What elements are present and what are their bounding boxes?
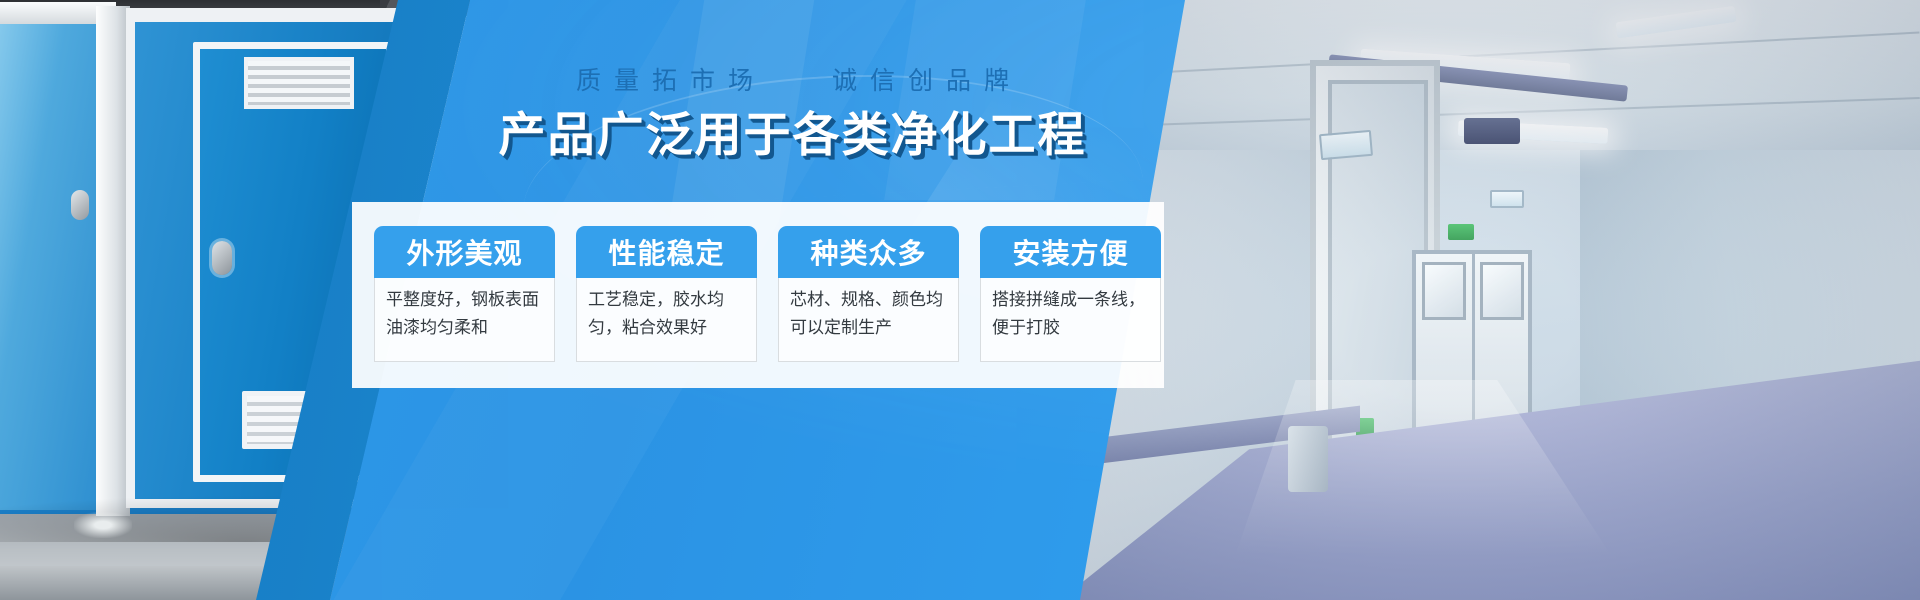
feature-card-title: 性能稳定 bbox=[576, 226, 757, 278]
feature-card: 种类众多 芯材、规格、颜色均可以定制生产 bbox=[778, 226, 959, 362]
feature-card-panel: 外形美观 平整度好，钢板表面油漆均匀柔和 性能稳定 工艺稳定，胶水均匀，粘合效果… bbox=[352, 202, 1164, 388]
feature-card-title: 安装方便 bbox=[980, 226, 1161, 278]
photo-ground-debris bbox=[74, 512, 132, 538]
feature-card: 安装方便 搭接拼缝成一条线，便于打胶 bbox=[980, 226, 1161, 362]
cabin-door-lock bbox=[71, 190, 89, 220]
product-promo-banner: 质量拓市场 诚信创品牌 产品广泛用于各类净化工程 外形美观 平整度好，钢板表面油… bbox=[0, 0, 1920, 600]
banner-headline: 产品广泛用于各类净化工程 bbox=[0, 108, 1585, 164]
banner-subtitle-left: 质量拓市场 bbox=[576, 67, 766, 95]
banner-subtitle: 质量拓市场 诚信创品牌 bbox=[0, 66, 1585, 97]
feature-card: 外形美观 平整度好，钢板表面油漆均匀柔和 bbox=[374, 226, 555, 362]
banner-subtitle-right: 诚信创品牌 bbox=[832, 67, 1022, 95]
feature-card-body: 芯材、规格、颜色均可以定制生产 bbox=[778, 278, 959, 362]
feature-card: 性能稳定 工艺稳定，胶水均匀，粘合效果好 bbox=[576, 226, 757, 362]
feature-card-body: 工艺稳定，胶水均匀，粘合效果好 bbox=[576, 278, 757, 362]
feature-card-body: 平整度好，钢板表面油漆均匀柔和 bbox=[374, 278, 555, 362]
cabin-door-handle bbox=[212, 241, 232, 275]
feature-card-title: 种类众多 bbox=[778, 226, 959, 278]
banner-text-block: 质量拓市场 诚信创品牌 产品广泛用于各类净化工程 bbox=[0, 66, 1585, 165]
feature-card-title: 外形美观 bbox=[374, 226, 555, 278]
feature-card-body: 搭接拼缝成一条线，便于打胶 bbox=[980, 278, 1161, 362]
